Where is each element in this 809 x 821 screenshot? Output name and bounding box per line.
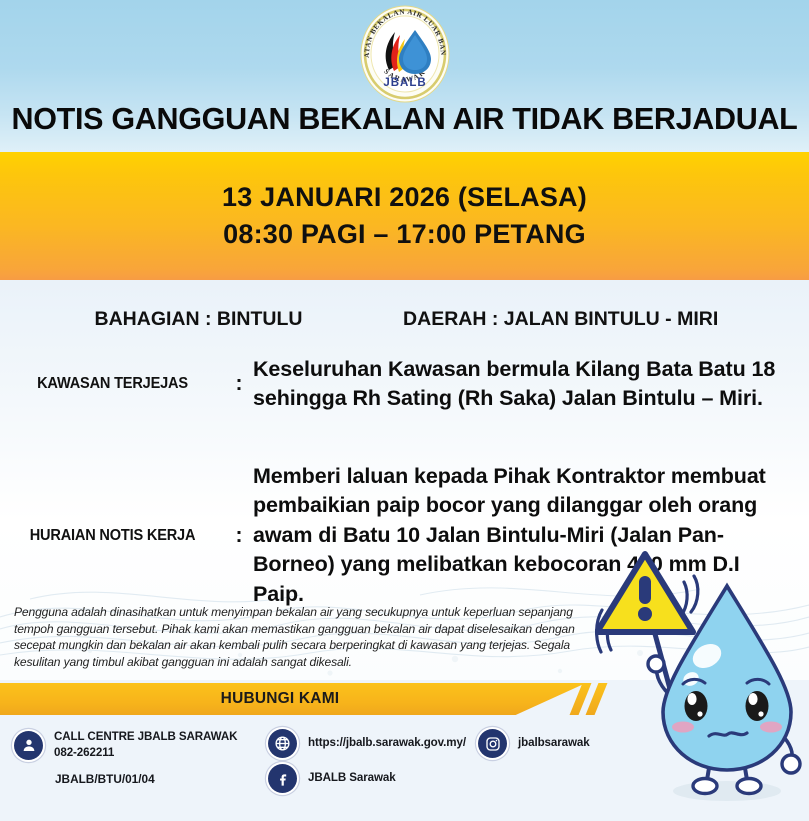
facebook-page[interactable]: JBALB Sarawak [308, 770, 396, 786]
contact-call-centre[interactable]: CALL CENTRE JBALB SARAWAK 082-262211 [14, 729, 237, 762]
contact-band-label: HUBUNGI KAMI [0, 683, 560, 715]
work-description-colon: : [225, 524, 253, 548]
notice-time: 08:30 PAGI – 17:00 PETANG [223, 216, 586, 253]
globe-icon [268, 729, 297, 758]
disclaimer-text: Pengguna adalah dinasihatkan untuk menyi… [14, 604, 594, 671]
affected-area-colon: : [225, 372, 253, 396]
page-title: NOTIS GANGGUAN BEKALAN AIR TIDAK BERJADU… [0, 102, 809, 137]
svg-text:JBALB: JBALB [383, 77, 426, 89]
contact-instagram[interactable]: jbalbsarawak [478, 729, 590, 758]
contact-call-centre-text: CALL CENTRE JBALB SARAWAK 082-262211 [54, 729, 237, 762]
facebook-icon [268, 764, 297, 793]
contact-website[interactable]: https://jbalb.sarawak.gov.my/ [268, 729, 466, 758]
website-url[interactable]: https://jbalb.sarawak.gov.my/ [308, 735, 466, 751]
call-centre-title: CALL CENTRE JBALB SARAWAK [54, 730, 237, 743]
notice-poster: JABATAN BEKALAN AIR LUAR BANDAR SARAWAK … [0, 0, 809, 821]
reference-number: JBALB/BTU/01/04 [55, 772, 155, 786]
instagram-icon [478, 729, 507, 758]
date-time-band: 13 JANUARI 2026 (SELASA) 08:30 PAGI – 17… [0, 152, 809, 280]
district-label: DAERAH : JALAN BINTULU - MIRI [397, 308, 809, 331]
affected-area-value: Keseluruhan Kawasan bermula Kilang Bata … [253, 355, 783, 414]
work-description-value: Memberi laluan kepada Pihak Kontraktor m… [253, 462, 783, 609]
person-icon [14, 731, 43, 760]
header-band: JABATAN BEKALAN AIR LUAR BANDAR SARAWAK … [0, 0, 809, 152]
affected-area-label: KAWASAN TERJEJAS [7, 375, 219, 393]
affected-area-row: KAWASAN TERJEJAS : Keseluruhan Kawasan b… [0, 355, 783, 414]
notice-date: 13 JANUARI 2026 (SELASA) [222, 179, 587, 216]
instagram-handle[interactable]: jbalbsarawak [518, 735, 590, 751]
work-description-row: HURAIAN NOTIS KERJA : Memberi laluan kep… [0, 462, 783, 609]
division-label: BAHAGIAN : BINTULU [0, 308, 397, 331]
jbalb-logo: JABATAN BEKALAN AIR LUAR BANDAR SARAWAK … [355, 4, 455, 104]
call-centre-phone: 082-262211 [54, 746, 114, 759]
work-description-label: HURAIAN NOTIS KERJA [7, 527, 219, 545]
contact-facebook[interactable]: JBALB Sarawak [268, 764, 396, 793]
region-row: BAHAGIAN : BINTULU DAERAH : JALAN BINTUL… [0, 308, 809, 331]
